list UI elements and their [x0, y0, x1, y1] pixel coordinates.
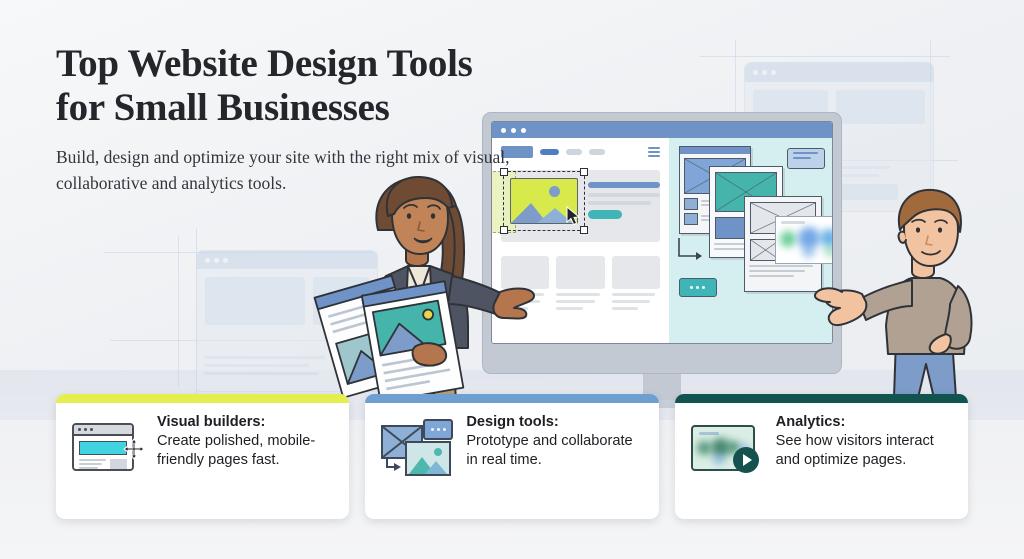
- nav-item: [589, 149, 605, 155]
- wireframe-image-icon: [379, 417, 453, 477]
- feature-card-row: Visual builders: Create polished, mobile…: [0, 394, 1024, 519]
- cta-button-shape: [588, 210, 622, 219]
- presenter-woman: [320, 168, 535, 400]
- infographic-canvas: Top Website Design Tools for Small Busin…: [0, 0, 1024, 559]
- card-title: Design tools:: [466, 414, 558, 430]
- nav-item: [566, 149, 582, 155]
- monitor-screen: [491, 121, 833, 344]
- browser-move-icon: [70, 417, 144, 477]
- comment-bubble-teal: [679, 278, 717, 297]
- content-card: [556, 256, 604, 310]
- monitor-illustration: [482, 112, 842, 374]
- card-accent-bar: [675, 394, 968, 403]
- flow-arrow-icon: [677, 236, 705, 264]
- headline-block: Top Website Design Tools for Small Busin…: [56, 42, 526, 196]
- pointing-man: [800, 186, 980, 398]
- card-title: Visual builders:: [157, 414, 265, 430]
- resize-handle[interactable]: [580, 168, 588, 176]
- comment-bubble-icon: [423, 419, 453, 440]
- page-title: Top Website Design Tools for Small Busin…: [56, 42, 526, 129]
- card-text: Design tools: Prototype and collaborate …: [466, 413, 644, 470]
- feature-card-design-tools[interactable]: Design tools: Prototype and collaborate …: [365, 394, 658, 519]
- content-card: [612, 256, 660, 310]
- card-accent-bar: [365, 394, 658, 403]
- card-body: Create polished, mobile-friendly pages f…: [157, 433, 315, 468]
- feature-card-visual-builders[interactable]: Visual builders: Create polished, mobile…: [56, 394, 349, 519]
- flow-arrow-icon: [385, 457, 403, 471]
- card-text: Visual builders: Create polished, mobile…: [157, 413, 335, 470]
- heatmap-play-icon: [689, 417, 763, 477]
- title-line-2: for Small Businesses: [56, 86, 390, 129]
- title-line-1: Top Website Design Tools: [56, 42, 473, 85]
- mouse-cursor-icon: [567, 207, 582, 226]
- card-accent-bar: [56, 394, 349, 403]
- grid-line: [178, 236, 179, 388]
- feature-card-analytics[interactable]: Analytics: See how visitors interact and…: [675, 394, 968, 519]
- play-button-icon[interactable]: [733, 447, 759, 473]
- page-subtitle: Build, design and optimize your site wit…: [56, 145, 526, 196]
- resize-handle[interactable]: [580, 226, 588, 234]
- browser-titlebar: [492, 122, 832, 138]
- card-body: See how visitors interact and optimize p…: [776, 433, 934, 468]
- comment-bubble-blue: [787, 148, 825, 169]
- hamburger-menu-icon: [648, 147, 660, 157]
- card-text: Analytics: See how visitors interact and…: [776, 413, 954, 470]
- image-thumbnail-icon: [405, 441, 451, 476]
- card-body: Prototype and collaborate in real time.: [466, 433, 632, 468]
- move-cursor-icon: [124, 439, 144, 459]
- nav-item-active: [540, 149, 559, 155]
- text-block: [588, 182, 660, 219]
- card-title: Analytics:: [776, 414, 846, 430]
- grid-line: [700, 56, 950, 57]
